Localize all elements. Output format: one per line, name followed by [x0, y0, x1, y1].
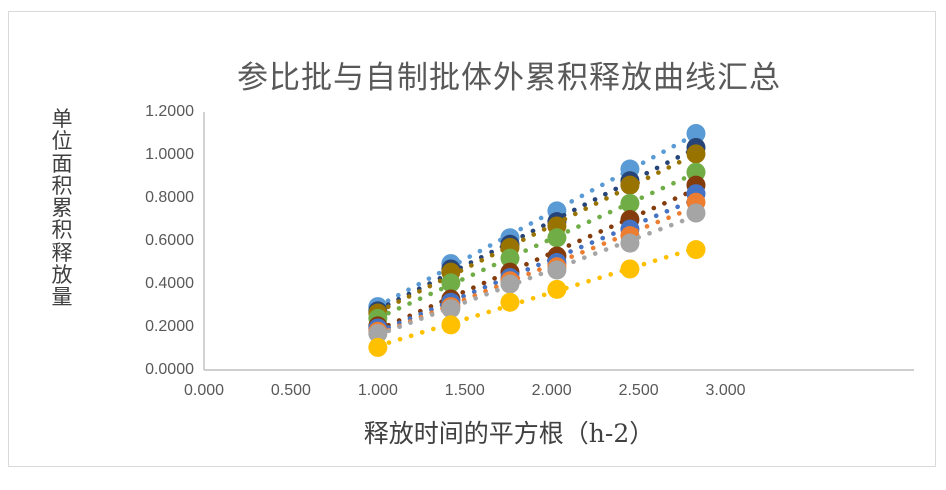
- x-tick-label: 1.500: [430, 382, 500, 400]
- y-tick-label: 1.0000: [124, 146, 194, 164]
- x-tick-label: 2.000: [517, 382, 587, 400]
- series-trendline: [378, 207, 696, 335]
- chart-frame: 参比批与自制批体外累积释放曲线汇总 单位面积累积释放量 释放时间的平方根（h-2…: [8, 11, 936, 467]
- y-tick-label: 0.0000: [124, 361, 194, 379]
- series-trendline: [378, 148, 696, 310]
- series-trendline: [378, 248, 696, 346]
- data-point[interactable]: [547, 228, 566, 247]
- y-tick-label: 1.2000: [124, 103, 194, 121]
- data-point[interactable]: [620, 259, 639, 278]
- data-point[interactable]: [620, 176, 639, 195]
- x-tick-label: 2.500: [604, 382, 674, 400]
- x-axis-tick-labels: 0.0000.5001.0001.5002.0002.5003.000: [9, 382, 946, 406]
- y-axis-title: 单位面积累积释放量: [47, 108, 77, 308]
- data-point[interactable]: [500, 275, 519, 294]
- y-tick-label: 0.8000: [124, 189, 194, 207]
- x-tick-label: 0.500: [256, 382, 326, 400]
- data-point[interactable]: [368, 338, 387, 357]
- series-4[interactable]: [368, 163, 705, 328]
- x-tick-label: 0.000: [169, 382, 239, 400]
- y-tick-label: 0.2000: [124, 318, 194, 336]
- data-point[interactable]: [686, 204, 705, 223]
- data-point[interactable]: [547, 280, 566, 299]
- x-tick-label: 3.000: [691, 382, 761, 400]
- series-trendline: [378, 173, 696, 318]
- series-trendline: [378, 216, 696, 335]
- series-3[interactable]: [368, 144, 705, 322]
- y-tick-label: 0.6000: [124, 232, 194, 250]
- series-trendline: [378, 134, 696, 306]
- data-point[interactable]: [547, 261, 566, 280]
- series-8[interactable]: [368, 204, 705, 343]
- data-point[interactable]: [686, 240, 705, 259]
- series-trendline: [378, 199, 696, 332]
- x-axis-title: 释放时间的平方根（h-2）: [209, 414, 809, 450]
- y-axis-tick-labels: 0.00000.20000.40000.60000.80001.00001.20…: [114, 12, 194, 490]
- series-5[interactable]: [368, 176, 705, 336]
- series-trendline: [378, 189, 696, 329]
- data-point[interactable]: [441, 315, 460, 334]
- data-point[interactable]: [686, 144, 705, 163]
- data-point[interactable]: [620, 234, 639, 253]
- chart-title: 参比批与自制批体外累积释放曲线汇总: [149, 52, 869, 97]
- data-point[interactable]: [500, 293, 519, 312]
- y-tick-label: 0.4000: [124, 275, 194, 293]
- x-tick-label: 1.000: [343, 382, 413, 400]
